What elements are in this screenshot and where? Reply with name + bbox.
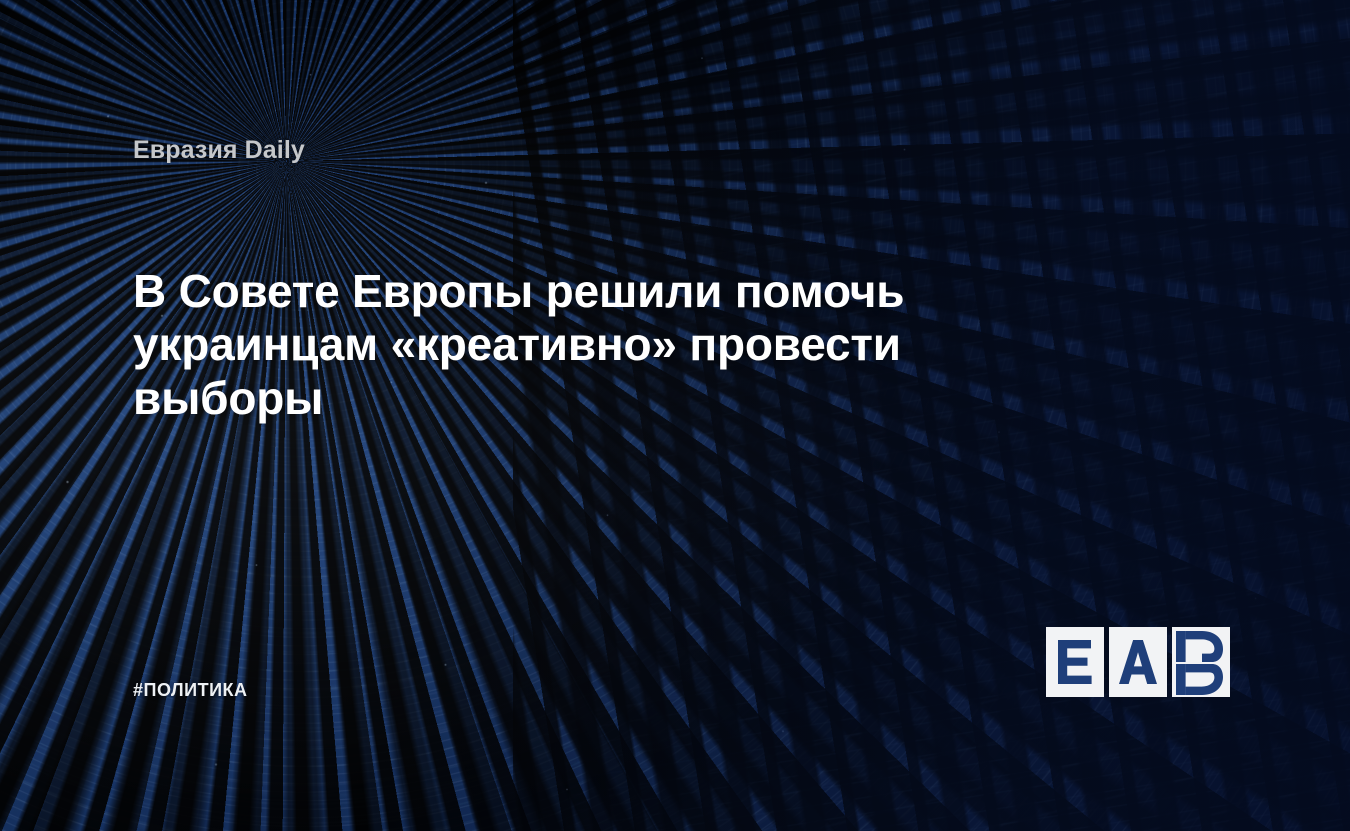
- logo-tile-d: [1172, 627, 1230, 697]
- news-cover-card: Евразия Daily В Совете Европы решили пом…: [0, 0, 1350, 831]
- card-content: Евразия Daily В Совете Европы решили пом…: [0, 0, 1350, 831]
- logo-letter-a-icon: [1119, 640, 1157, 684]
- ead-logo: [1046, 627, 1230, 697]
- logo-letter-d-icon: [1176, 627, 1242, 697]
- publisher-name: Евразия Daily: [133, 136, 305, 165]
- logo-letter-e-icon: [1058, 640, 1092, 684]
- logo-tile-a: [1109, 627, 1167, 697]
- headline: В Совете Европы решили помочь украинцам …: [133, 265, 1053, 425]
- category-tag[interactable]: #ПОЛИТИКА: [133, 680, 248, 701]
- logo-tile-e: [1046, 627, 1104, 697]
